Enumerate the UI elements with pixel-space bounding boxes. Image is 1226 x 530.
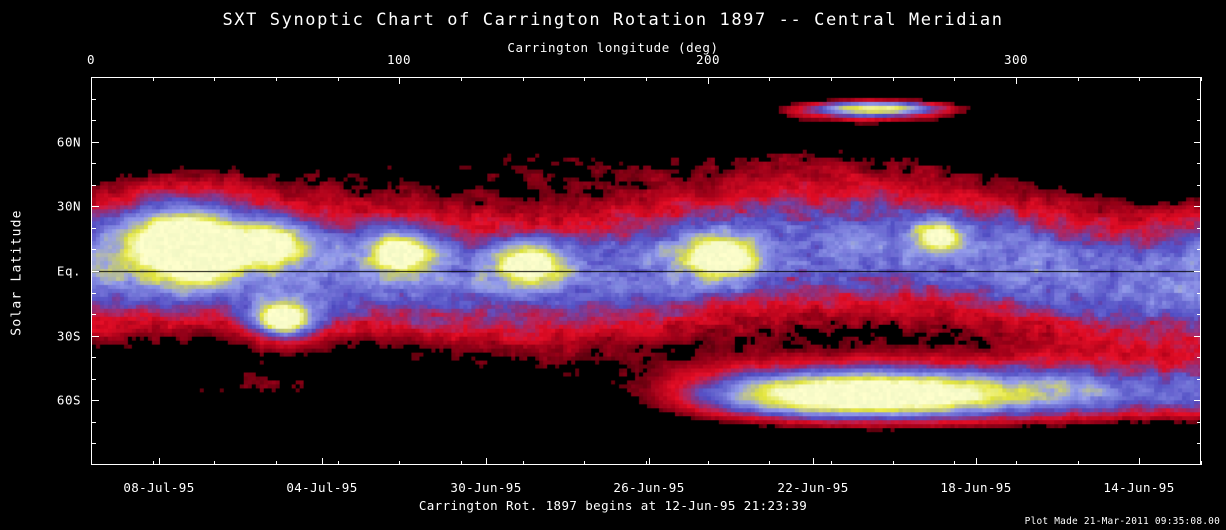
x-tick-label-date: 26-Jun-95: [613, 480, 684, 495]
y-tick-label: 60N: [57, 135, 81, 150]
x-minor-tick-top: [276, 77, 277, 81]
x-tick-label-top: 200: [696, 52, 720, 67]
plot-area: [91, 77, 1201, 465]
x-minor-tick-bottom: [338, 461, 339, 465]
x-minor-tick-bottom: [1201, 461, 1202, 465]
plot-made-timestamp: Plot Made 21-Mar-2011 09:35:08.00: [1025, 516, 1220, 527]
page-title: SXT Synoptic Chart of Carrington Rotatio…: [0, 10, 1226, 30]
y-tick-label: 60S: [57, 393, 81, 408]
y-minor-tick-left: [92, 379, 96, 380]
y-major-tick-left: [92, 336, 99, 337]
y-minor-tick-left: [92, 314, 96, 315]
x-major-tick-top: [1016, 77, 1017, 84]
x-minor-tick-bottom: [276, 461, 277, 465]
y-minor-tick-right: [1197, 443, 1201, 444]
y-major-tick-left: [92, 271, 99, 272]
x-minor-tick-top: [954, 77, 955, 81]
y-minor-tick-right: [1197, 249, 1201, 250]
x-minor-tick-bottom: [153, 461, 154, 465]
y-minor-tick-left: [92, 163, 96, 164]
x-minor-tick-top: [893, 77, 894, 81]
y-minor-tick-right: [1197, 422, 1201, 423]
y-minor-tick-left: [92, 357, 96, 358]
x-minor-tick-top: [1201, 77, 1202, 81]
y-minor-tick-right: [1197, 293, 1201, 294]
x-minor-tick-top: [1078, 77, 1079, 81]
x-minor-tick-top: [831, 77, 832, 81]
y-minor-tick-right: [1197, 185, 1201, 186]
x-minor-tick-bottom: [954, 461, 955, 465]
x-tick-label-date: 14-Jun-95: [1103, 480, 1174, 495]
x-major-tick-bottom: [159, 458, 160, 465]
x-minor-tick-bottom: [708, 461, 709, 465]
y-minor-tick-left: [92, 422, 96, 423]
x-minor-tick-top: [584, 77, 585, 81]
x-minor-tick-bottom: [584, 461, 585, 465]
sxt-synoptic-chart-page: SXT Synoptic Chart of Carrington Rotatio…: [0, 0, 1226, 530]
x-minor-tick-top: [153, 77, 154, 81]
x-tick-label-date: 30-Jun-95: [450, 480, 521, 495]
x-minor-tick-bottom: [399, 461, 400, 465]
x-minor-tick-top: [214, 77, 215, 81]
y-major-tick-left: [92, 206, 99, 207]
x-minor-tick-top: [1139, 77, 1140, 81]
x-major-tick-bottom: [1139, 458, 1140, 465]
x-minor-tick-bottom: [769, 461, 770, 465]
x-tick-label-top: 0: [87, 52, 95, 67]
x-major-tick-bottom: [813, 458, 814, 465]
x-minor-tick-bottom: [831, 461, 832, 465]
y-tick-label: 30N: [57, 199, 81, 214]
x-minor-tick-bottom: [91, 461, 92, 465]
x-major-tick-bottom: [486, 458, 487, 465]
y-minor-tick-right: [1197, 99, 1201, 100]
x-major-tick-bottom: [976, 458, 977, 465]
y-major-tick-left: [92, 142, 99, 143]
x-minor-tick-top: [338, 77, 339, 81]
y-minor-tick-right: [1197, 120, 1201, 121]
x-axis-top-label: Carrington longitude (deg): [0, 40, 1226, 55]
x-minor-tick-top: [769, 77, 770, 81]
y-minor-tick-left: [92, 293, 96, 294]
x-minor-tick-bottom: [461, 461, 462, 465]
x-major-tick-top: [399, 77, 400, 84]
x-tick-label-top: 100: [387, 52, 411, 67]
y-minor-tick-left: [92, 120, 96, 121]
x-minor-tick-bottom: [214, 461, 215, 465]
y-minor-tick-right: [1197, 228, 1201, 229]
synoptic-map-image: [92, 78, 1200, 464]
x-minor-tick-bottom: [646, 461, 647, 465]
y-tick-label: Eq.: [57, 264, 81, 279]
y-minor-tick-right: [1197, 163, 1201, 164]
y-minor-tick-left: [92, 249, 96, 250]
x-minor-tick-bottom: [1078, 461, 1079, 465]
x-tick-label-date: 08-Jul-95: [123, 480, 194, 495]
y-major-tick-right: [1194, 271, 1201, 272]
x-major-tick-bottom: [649, 458, 650, 465]
x-tick-label-top: 300: [1004, 52, 1028, 67]
x-tick-label-date: 18-Jun-95: [940, 480, 1011, 495]
x-minor-tick-bottom: [523, 461, 524, 465]
y-axis-label: Solar Latitude: [10, 203, 25, 343]
y-major-tick-right: [1194, 142, 1201, 143]
x-tick-label-date: 04-Jul-95: [286, 480, 357, 495]
x-minor-tick-top: [523, 77, 524, 81]
x-minor-tick-top: [461, 77, 462, 81]
y-minor-tick-left: [92, 99, 96, 100]
x-minor-tick-bottom: [1016, 461, 1017, 465]
x-tick-label-date: 22-Jun-95: [777, 480, 848, 495]
y-major-tick-left: [92, 400, 99, 401]
x-major-tick-bottom: [322, 458, 323, 465]
y-minor-tick-right: [1197, 357, 1201, 358]
x-minor-tick-bottom: [893, 461, 894, 465]
y-minor-tick-left: [92, 185, 96, 186]
x-minor-tick-top: [646, 77, 647, 81]
y-minor-tick-right: [1197, 314, 1201, 315]
bottom-caption: Carrington Rot. 1897 begins at 12-Jun-95…: [0, 498, 1226, 513]
y-minor-tick-left: [92, 443, 96, 444]
y-tick-label: 30S: [57, 329, 81, 344]
y-major-tick-right: [1194, 400, 1201, 401]
x-major-tick-top: [708, 77, 709, 84]
y-minor-tick-right: [1197, 379, 1201, 380]
y-major-tick-right: [1194, 206, 1201, 207]
y-major-tick-right: [1194, 336, 1201, 337]
x-major-tick-top: [91, 77, 92, 84]
y-minor-tick-left: [92, 228, 96, 229]
